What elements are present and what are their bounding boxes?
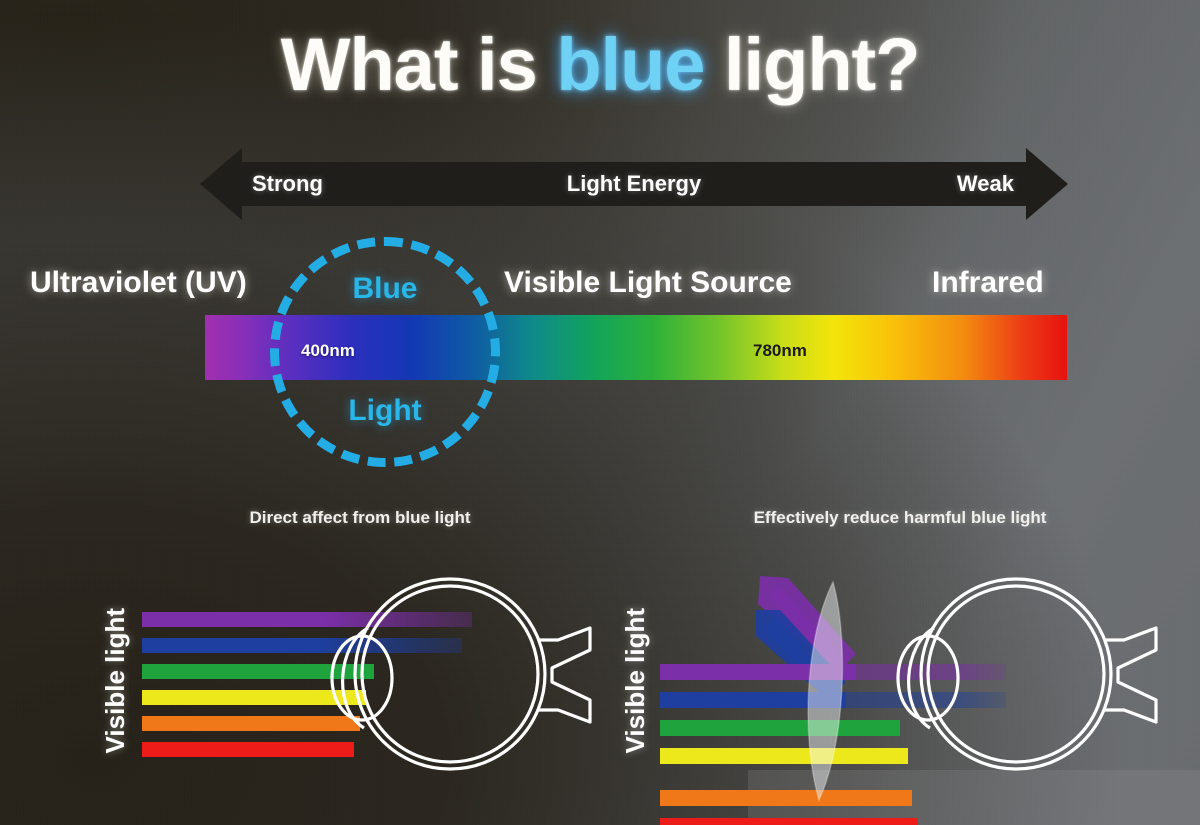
title-part-one: What is	[281, 23, 557, 106]
light-energy-arrow: Strong Light Energy Weak	[200, 148, 1068, 220]
blue-circle-label-bottom: Light	[270, 394, 500, 428]
diagram-reduced-blue-light: Effectively reduce harmful blue light Vi…	[620, 500, 1180, 825]
title-highlight-blue: blue	[556, 23, 704, 106]
page-title: What is blue light?	[0, 22, 1200, 107]
eyeball-inner	[362, 586, 538, 762]
arrow-label-weak: Weak	[957, 162, 1014, 206]
eye-diagram-right	[848, 562, 1178, 792]
arrow-label-center: Light Energy	[200, 162, 1068, 206]
blue-circle-label-top: Blue	[270, 272, 500, 306]
panel-axis-label-right: Visible light	[620, 608, 651, 753]
label-infrared: Infrared	[932, 266, 1044, 300]
panel-axis-label-left: Visible light	[100, 608, 131, 753]
wavelength-780nm: 780nm	[753, 341, 807, 361]
label-visible-light-source: Visible Light Source	[504, 266, 792, 300]
eyeball-inner	[928, 586, 1104, 762]
eyeball-outer	[355, 579, 545, 769]
ray-red-in	[660, 818, 918, 825]
panel-title-left: Direct affect from blue light	[100, 508, 620, 528]
lens-body	[808, 582, 842, 800]
panel-title-right: Effectively reduce harmful blue light	[620, 508, 1180, 528]
title-part-two: light?	[704, 23, 919, 106]
label-ultraviolet: Ultraviolet (UV)	[30, 266, 247, 300]
infographic-canvas: What is blue light? Strong Light Energy …	[0, 0, 1200, 825]
spectrum-labels: Ultraviolet (UV) Visible Light Source In…	[0, 266, 1200, 308]
eyeball-outer	[921, 579, 1111, 769]
diagram-direct-effect: Direct affect from blue light Visible li…	[100, 500, 620, 825]
eye-diagram-left	[290, 562, 600, 792]
